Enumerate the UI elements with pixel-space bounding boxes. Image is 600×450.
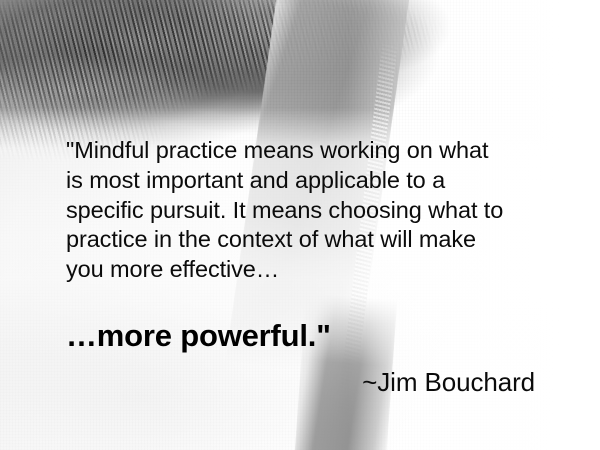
quote-text-block: "Mindful practice means working on what … bbox=[66, 136, 556, 285]
quote-emphasis-line: …more powerful." bbox=[66, 318, 331, 354]
quote-attribution: ~Jim Bouchard bbox=[0, 366, 535, 398]
quote-line-3: specific pursuit. It means choosing what… bbox=[66, 196, 556, 226]
quote-image: "Mindful practice means working on what … bbox=[0, 0, 600, 450]
quote-line-2: is most important and applicable to a bbox=[66, 166, 556, 196]
quote-line-4: practice in the context of what will mak… bbox=[66, 225, 556, 255]
quote-line-5: you more effective… bbox=[66, 255, 556, 285]
quote-line-1: "Mindful practice means working on what bbox=[66, 136, 556, 166]
